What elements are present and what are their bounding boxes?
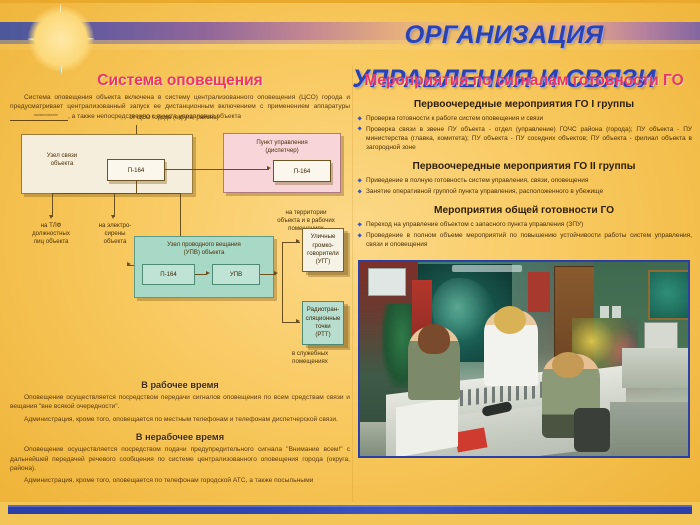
node-upv: УПВ (212, 264, 260, 285)
photo-floor (610, 402, 690, 458)
photo-person-right-hair (552, 352, 584, 378)
stack-radio-points: Радиотран- сляционные точки (РТТ) (302, 301, 344, 345)
arrow-to-upv-group (127, 262, 131, 266)
node-p164-upv: П-164 (142, 264, 195, 285)
photo-window-panel (368, 268, 406, 296)
emblem-glow (28, 6, 94, 72)
arrow-to-tlf (49, 215, 53, 219)
group-pu-label: Пункт управления (диспетчер) (226, 139, 338, 155)
label-out-tlf: на ТЛФ должностных лиц объекта (18, 222, 84, 246)
line-p164-to-pu (165, 169, 269, 170)
footer-blue-bar (8, 505, 692, 514)
line-p164-down (136, 181, 137, 193)
bullet-diamond-icon (357, 189, 362, 194)
arrow-upv-out (274, 271, 278, 275)
group-heading-1: Первоочередные мероприятия ГО I группы (356, 99, 692, 110)
bus-down-left (52, 193, 53, 217)
label-dest-bottom: в служебных помещениях (272, 350, 348, 366)
group-list-2: Приведение в полную готовность систем уп… (356, 176, 692, 196)
off-time-p2: Администрация, кроме того, оповещается п… (10, 476, 350, 485)
heading-work-time: В рабочее время (10, 380, 350, 390)
bullet-diamond-icon (357, 178, 362, 183)
intro-part1: Система оповещения объекта включена в си… (10, 94, 350, 110)
right-column: Мероприятия по сигналам готовности ГО Пе… (356, 72, 692, 502)
stack-loudspeakers: Уличные громко- говорители (УГГ) (302, 228, 344, 272)
group-list-1: Проверка готовности к работе систем опов… (356, 114, 692, 152)
list-item-text: Проверка связи в звене ПУ объекта - отде… (366, 126, 692, 151)
arrow-p164-to-upv (206, 271, 210, 275)
frame-top-line (0, 0, 700, 3)
group-heading-2: Первоочередные мероприятия ГО II группы (356, 161, 692, 172)
line-upv-split-v (282, 242, 283, 322)
list-item-text: Проведение в полном объеме мероприятий п… (366, 232, 692, 248)
list-item: Проверка готовности к работе систем опов… (356, 114, 692, 123)
arrow-p164-to-pu (267, 166, 271, 170)
list-item: Проверка связи в звене ПУ объекта - отде… (356, 125, 692, 153)
arrow-to-loudspeakers (296, 239, 300, 243)
bullet-diamond-icon (357, 222, 362, 227)
photo-person-center-hair (494, 306, 526, 334)
group-uzel-svyazi-label: Узел связи объекта (26, 152, 98, 168)
node-p164-uzel: П-164 (107, 159, 165, 181)
list-item: Приведение в полную готовность систем уп… (356, 176, 692, 185)
photo-side-desk (622, 348, 690, 388)
left-column: Система оповещения Система оповещения об… (10, 72, 350, 502)
arrow-to-radio-points (296, 319, 300, 323)
list-item-text: Переход на управление объектом с запасно… (366, 221, 583, 228)
arrow-to-sirens (111, 215, 115, 219)
list-item-text: Приведение в полную готовность систем уп… (366, 177, 588, 184)
photo-switch-plates (600, 306, 609, 318)
group-list-3: Переход на управление объектом с запасно… (356, 220, 692, 249)
diagram-source-label: от ЦСО города (округа, района) (84, 114, 264, 122)
list-item: Переход на управление объектом с запасно… (356, 220, 692, 229)
right-column-title: Мероприятия по сигналам готовности ГО (356, 72, 692, 90)
work-time-p1: Оповещение осуществляется посредством пе… (10, 393, 350, 412)
bus-down-mid (114, 193, 115, 217)
page-title: ОРГАНИЗАЦИЯ УПРАВЛЕНИЯ И СВЯЗИ (314, 13, 693, 57)
column-divider (352, 66, 353, 506)
group-heading-3: Мероприятия общей готовности ГО (356, 205, 692, 216)
photo-chair (574, 408, 610, 452)
off-time-p1: Оповещение осуществляется посредством по… (10, 445, 350, 473)
list-item: Занятие оперативной группой пункта управ… (356, 187, 692, 196)
bus-horizontal (52, 193, 181, 194)
list-item: Проведение в полном объеме мероприятий п… (356, 231, 692, 249)
control-room-photo (358, 260, 690, 458)
alert-system-diagram: от ЦСО города (округа, района) Узел связ… (10, 112, 350, 402)
poster-root: ОРГАНИЗАЦИЯ УПРАВЛЕНИЯ И СВЯЗИ Система о… (0, 0, 700, 525)
photo-right-screen (648, 270, 690, 320)
bullet-diamond-icon (357, 233, 362, 238)
heading-off-time: В нерабочее время (10, 432, 350, 442)
work-time-p2: Администрация, кроме того, оповещается п… (10, 415, 350, 424)
group-upv-label: Узел проводного вещания (УПВ) объекта (136, 241, 272, 257)
photo-wall-poster (528, 272, 550, 312)
photo-person-left-hair (418, 324, 450, 354)
bullet-diamond-icon (357, 127, 362, 132)
node-p164-pu: П-164 (273, 160, 331, 182)
bullet-diamond-icon (357, 116, 362, 121)
photo-map-header-text (452, 265, 522, 272)
left-column-title: Система оповещения (10, 72, 350, 90)
list-item-text: Проверка готовности к работе систем опов… (366, 115, 543, 122)
emercom-star-emblem (18, 2, 104, 76)
list-item-text: Занятие оперативной группой пункта управ… (366, 188, 603, 195)
photo-switch-plates-2 (612, 306, 621, 318)
